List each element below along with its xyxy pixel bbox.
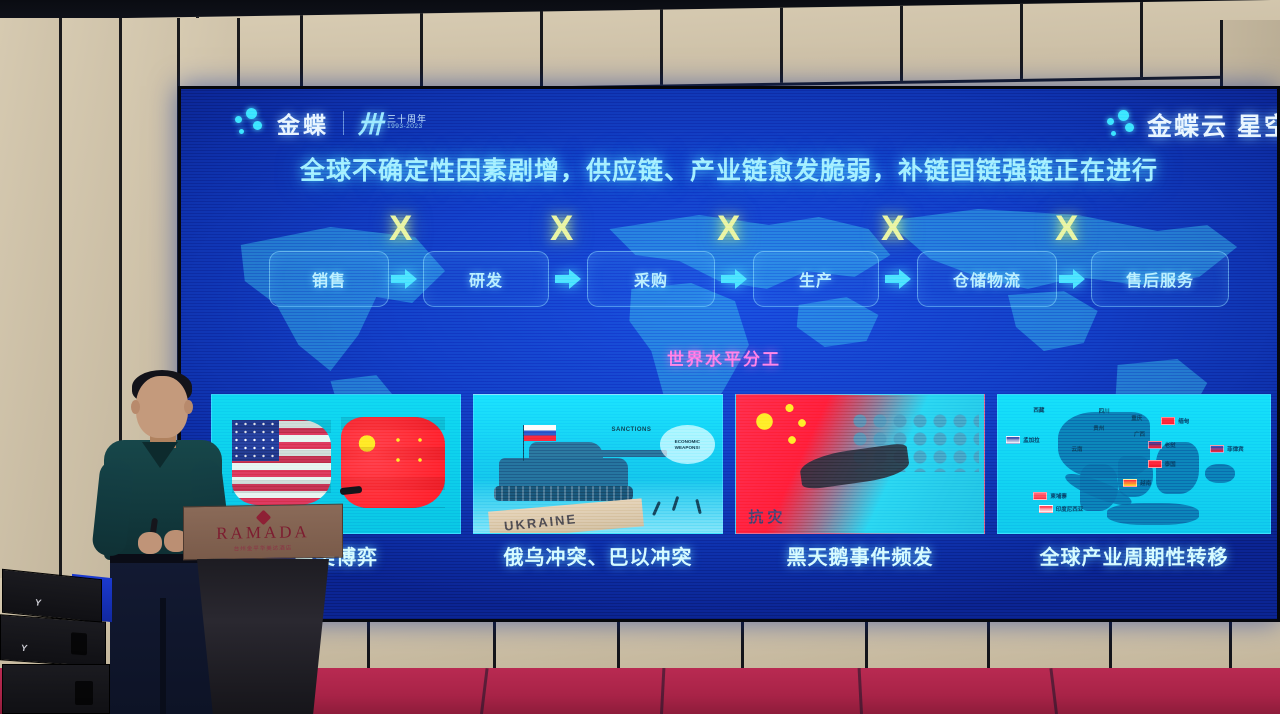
map-label: 云南 bbox=[1071, 445, 1082, 453]
sanctions-label: SANCTIONS bbox=[603, 420, 660, 442]
pa-speaker-box: Y bbox=[0, 614, 106, 667]
chain-node-procurement: 采购 bbox=[587, 251, 715, 307]
chain-break-icon-1: X bbox=[389, 211, 412, 246]
chain-arrow-icon-5 bbox=[1059, 269, 1085, 289]
anniversary-line-2: 1993-2023 bbox=[387, 124, 427, 131]
chain-break-icon-4: X bbox=[881, 211, 904, 246]
economic-weapons-bubble: ECONOMIC WEAPONS! bbox=[660, 425, 715, 464]
ramada-brand-text: RAMADA bbox=[184, 522, 342, 545]
podium-base bbox=[197, 559, 329, 714]
podium-front-panel: RAMADA 台州金平华美达酒店 bbox=[183, 504, 343, 561]
map-flag-entry: 缅甸 bbox=[1161, 417, 1189, 425]
pa-speaker-stack: Y Y bbox=[0, 560, 116, 714]
chain-label: 采购 bbox=[634, 267, 668, 291]
conference-room-scene: 金蝶 卅 三十周年 1993-2023 金蝶云 星空 全球不确定性因素剧增 bbox=[0, 0, 1280, 714]
map-label: 重庆 bbox=[1131, 414, 1142, 422]
presentation-slide: 金蝶 卅 三十周年 1993-2023 金蝶云 星空 全球不确定性因素剧增 bbox=[181, 89, 1277, 619]
chain-node-rd: 研发 bbox=[423, 251, 549, 307]
chain-arrow-icon-1 bbox=[391, 269, 417, 289]
map-label: 西藏 bbox=[1033, 406, 1044, 414]
chain-break-icon-3: X bbox=[717, 211, 740, 246]
horizontal-division-annotation: 世界水平分工 bbox=[667, 345, 781, 370]
photo-captions: 中美博弈 俄乌冲突、巴以冲突 黑天鹅事件频发 全球产业周期性转移 bbox=[211, 541, 1271, 575]
caption-industry-transfer: 全球产业周期性转移 bbox=[997, 541, 1271, 570]
kingdee-cloud-brand-text: 金蝶云 星空 bbox=[1147, 107, 1277, 143]
map-flag-entry: 泰国 bbox=[1148, 460, 1176, 468]
map-flag-entry: 老挝 bbox=[1148, 441, 1176, 449]
lectern-podium: RAMADA 台州金平华美达酒店 bbox=[183, 505, 343, 714]
chain-arrow-icon-3 bbox=[721, 269, 747, 289]
anniversary-mark-icon: 卅 bbox=[358, 105, 381, 141]
photo-black-swan-disaster: 抗灾 bbox=[735, 394, 985, 534]
russia-flag-icon bbox=[524, 425, 556, 440]
china-flag-fist-icon bbox=[341, 417, 445, 508]
kingdee-brand-text: 金蝶 bbox=[277, 106, 329, 140]
chain-node-warehousing: 仓储物流 bbox=[917, 251, 1057, 307]
chain-node-aftersales: 售后服务 bbox=[1091, 251, 1229, 307]
map-flag-entry: 孟加拉 bbox=[1006, 436, 1040, 444]
kingdee-dots-icon bbox=[233, 108, 267, 138]
kingdee-cloud-dots-icon bbox=[1105, 110, 1139, 140]
slide-title: 全球不确定性因素剧增，供应链、产业链愈发脆弱，补链固链强链正在进行 bbox=[181, 151, 1277, 187]
kingdee-logo-left: 金蝶 卅 三十周年 1993-2023 bbox=[233, 105, 427, 141]
map-flag-entry: 柬埔寨 bbox=[1033, 492, 1067, 500]
map-flag-entry: 印度尼西亚 bbox=[1039, 505, 1084, 513]
chain-break-icon-5: X bbox=[1055, 211, 1078, 246]
disaster-relief-label: 抗灾 bbox=[748, 506, 786, 527]
chain-label: 售后服务 bbox=[1126, 267, 1194, 291]
pa-speaker-box bbox=[2, 664, 110, 714]
chain-arrow-icon-4 bbox=[885, 269, 911, 289]
presenter-head bbox=[136, 376, 188, 438]
anniversary-badge: 卅 三十周年 1993-2023 bbox=[358, 105, 427, 141]
chain-label: 生产 bbox=[799, 267, 833, 291]
caption-black-swan: 黑天鹅事件频发 bbox=[735, 541, 985, 570]
kingdee-cloud-logo-right: 金蝶云 星空 bbox=[1105, 107, 1277, 143]
chain-label: 研发 bbox=[469, 267, 503, 291]
chain-node-production: 生产 bbox=[753, 251, 879, 307]
ramada-hotel-subtitle: 台州金平华美达酒店 bbox=[184, 543, 342, 554]
led-presentation-screen: 金蝶 卅 三十周年 1993-2023 金蝶云 星空 全球不确定性因素剧增 bbox=[178, 86, 1280, 622]
chain-label: 仓储物流 bbox=[953, 267, 1021, 291]
chain-arrow-icon-2 bbox=[555, 269, 581, 289]
photo-asia-industry-map: 西藏 四川 重庆 贵州 广西 云南 缅甸 老挝 bbox=[997, 394, 1271, 534]
chain-node-sales: 销售 bbox=[269, 251, 389, 307]
photo-russia-ukraine-cartoon: UKRAINE SANCTIONS ECONOMIC WEAPONS! bbox=[473, 394, 723, 534]
map-label: 广西 bbox=[1134, 430, 1145, 438]
chain-break-icon-2: X bbox=[550, 211, 573, 246]
supply-chain-diagram: 销售 X 研发 X 采购 X bbox=[269, 225, 1199, 317]
chain-label: 销售 bbox=[312, 267, 346, 291]
pa-brand-logo: Y bbox=[21, 643, 27, 653]
caption-russia-ukraine: 俄乌冲突、巴以冲突 bbox=[473, 541, 723, 570]
map-label: 贵州 bbox=[1093, 424, 1104, 432]
map-label: 四川 bbox=[1099, 407, 1110, 415]
us-flag-fist-icon bbox=[232, 420, 331, 506]
map-flag-entry: 菲律宾 bbox=[1210, 445, 1244, 453]
map-flag-entry: 越南 bbox=[1123, 479, 1151, 487]
logo-divider bbox=[343, 111, 344, 135]
photo-row: UKRAINE SANCTIONS ECONOMIC WEAPONS! bbox=[211, 394, 1271, 534]
rescue-boat-icon bbox=[799, 443, 912, 491]
pa-brand-logo: Y bbox=[35, 597, 41, 608]
